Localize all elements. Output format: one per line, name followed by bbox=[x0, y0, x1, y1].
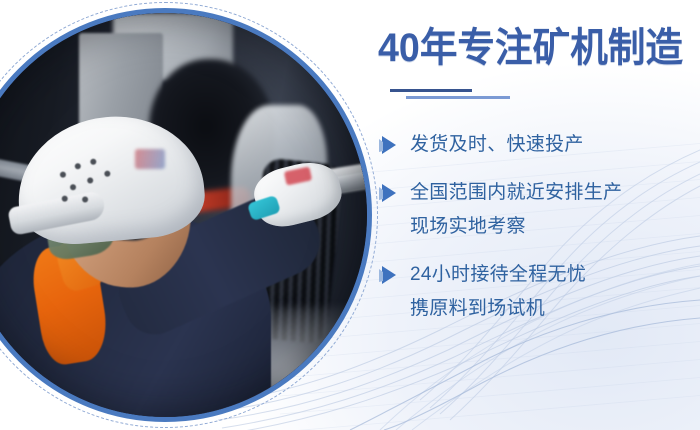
photo-circle-wrapper bbox=[0, 8, 372, 422]
list-item: 发货及时、快速投产 bbox=[376, 128, 700, 162]
title-underline-dark bbox=[390, 89, 472, 92]
arrow-right-icon bbox=[378, 183, 400, 203]
list-item: 24小时接待全程无忧 携原料到场试机 bbox=[376, 258, 700, 326]
list-item-line: 24小时接待全程无忧 bbox=[410, 258, 700, 292]
arrow-right-icon bbox=[378, 135, 400, 155]
promo-banner: 40年专注矿机制造 发货及时、快速投产 全国范围内就近安排生产 现场实地考察 bbox=[0, 0, 700, 430]
page-title: 40年专注矿机制造 bbox=[378, 28, 683, 68]
content-panel: 40年专注矿机制造 发货及时、快速投产 全国范围内就近安排生产 现场实地考察 bbox=[376, 0, 700, 430]
list-item: 全国范围内就近安排生产 现场实地考察 bbox=[376, 176, 700, 244]
list-item-line: 发货及时、快速投产 bbox=[410, 128, 700, 162]
list-item-line: 现场实地考察 bbox=[410, 210, 700, 244]
title-underline-light bbox=[406, 96, 510, 99]
feature-list: 发货及时、快速投产 全国范围内就近安排生产 现场实地考察 24小时接待全程无忧 … bbox=[376, 128, 700, 340]
list-item-line: 全国范围内就近安排生产 bbox=[410, 176, 700, 210]
arrow-right-icon bbox=[378, 265, 400, 285]
list-item-line: 携原料到场试机 bbox=[410, 292, 700, 326]
worker-photo bbox=[0, 8, 372, 422]
